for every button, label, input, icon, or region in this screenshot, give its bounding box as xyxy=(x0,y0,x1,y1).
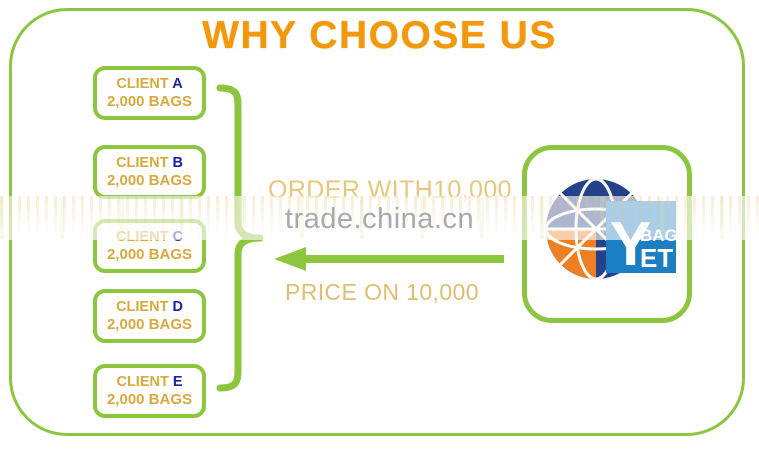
client-label-prefix: CLIENT xyxy=(116,299,168,315)
client-quantity: 2,000 BAGS xyxy=(107,317,192,333)
curly-brace-icon xyxy=(212,82,270,394)
banner-image: WHY CHOOSE US CLIENT A 2,000 BAGS CLIENT… xyxy=(0,0,759,454)
client-quantity: 2,000 BAGS xyxy=(107,247,192,263)
page-title: WHY CHOOSE US xyxy=(0,14,759,58)
client-letter: A xyxy=(172,76,182,92)
client-label: CLIENT C xyxy=(116,230,183,245)
client-label: CLIENT D xyxy=(116,300,183,315)
client-letter: E xyxy=(173,374,183,390)
client-label: CLIENT B xyxy=(116,156,183,171)
client-label: CLIENT A xyxy=(116,77,182,92)
client-quantity: 2,000 BAGS xyxy=(107,392,192,408)
client-box-b: CLIENT B 2,000 BAGS xyxy=(93,145,206,199)
client-box-a: CLIENT A 2,000 BAGS xyxy=(93,66,206,120)
client-box-e: CLIENT E 2,000 BAGS xyxy=(93,364,206,418)
client-letter: D xyxy=(172,299,182,315)
client-letter: C xyxy=(172,229,182,245)
svg-text:ET: ET xyxy=(640,243,673,273)
client-quantity: 2,000 BAGS xyxy=(107,173,192,189)
client-label-prefix: CLIENT xyxy=(116,229,168,245)
client-letter: B xyxy=(172,155,182,171)
client-label-prefix: CLIENT xyxy=(116,155,168,171)
price-on-text: PRICE ON 10,000 xyxy=(285,279,479,306)
client-label-prefix: CLIENT xyxy=(116,76,168,92)
company-logo-icon: Y BAG ET xyxy=(544,165,676,301)
order-with-text: ORDER WITH10,000 xyxy=(268,176,512,205)
client-label: CLIENT E xyxy=(116,375,182,390)
client-quantity: 2,000 BAGS xyxy=(107,94,192,110)
client-box-c: CLIENT C 2,000 BAGS xyxy=(93,219,206,273)
left-arrow-icon xyxy=(272,246,504,272)
client-label-prefix: CLIENT xyxy=(116,374,168,390)
client-box-d: CLIENT D 2,000 BAGS xyxy=(93,289,206,343)
